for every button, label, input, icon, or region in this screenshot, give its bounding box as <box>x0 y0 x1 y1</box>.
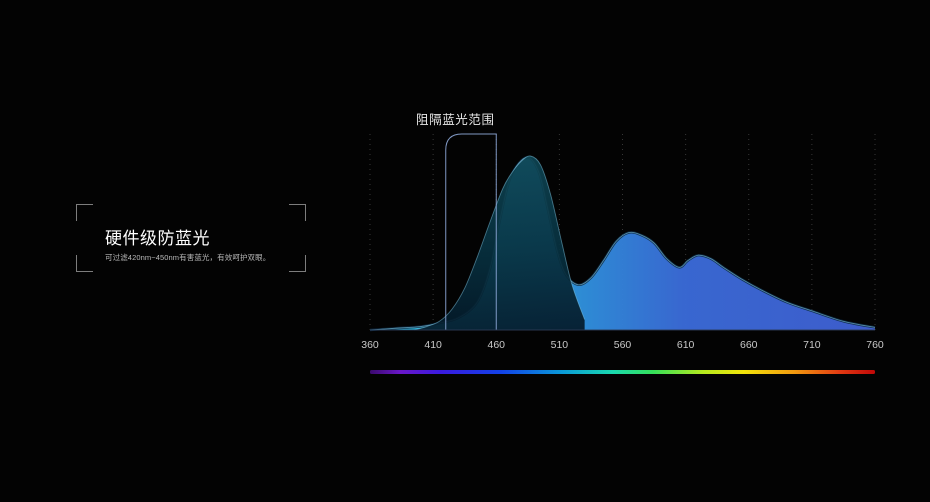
x-axis-tick-label: 460 <box>487 339 505 351</box>
screen-root: 硬件级防蓝光 可过滤420nm~450nm有害蓝光，有效呵护双眼。 阻隔蓝光范围… <box>0 0 930 502</box>
x-axis-tick-label: 610 <box>677 339 695 351</box>
bracket-bottom-left-icon <box>76 255 93 272</box>
feature-subtitle: 可过滤420nm~450nm有害蓝光，有效呵护双眼。 <box>105 254 270 262</box>
blocked-range-annotation-label: 阻隔蓝光范围 <box>416 114 495 127</box>
bracket-bottom-right-icon <box>289 255 306 272</box>
feature-callout: 硬件级防蓝光 可过滤420nm~450nm有害蓝光，有效呵护双眼。 <box>76 204 306 272</box>
x-axis-tick-label: 360 <box>361 339 379 351</box>
x-axis-tick-labels: 360410460510560610660710760 <box>361 339 884 351</box>
visible-spectrum-bar <box>370 370 875 374</box>
bracket-top-right-icon <box>289 204 306 221</box>
x-axis-tick-label: 410 <box>424 339 442 351</box>
feature-title: 硬件级防蓝光 <box>105 230 210 247</box>
spectrum-chart: 阻隔蓝光范围 360410460510560610660710760 <box>340 96 910 396</box>
x-axis-tick-label: 560 <box>614 339 632 351</box>
x-axis-tick-label: 660 <box>740 339 758 351</box>
x-axis-tick-label: 510 <box>551 339 569 351</box>
x-axis-tick-label: 710 <box>803 339 821 351</box>
blocked-spectrum-area <box>414 156 584 330</box>
x-axis-tick-label: 760 <box>866 339 884 351</box>
spectrum-plot-svg: 360410460510560610660710760 <box>340 96 910 396</box>
bracket-top-left-icon <box>76 204 93 221</box>
